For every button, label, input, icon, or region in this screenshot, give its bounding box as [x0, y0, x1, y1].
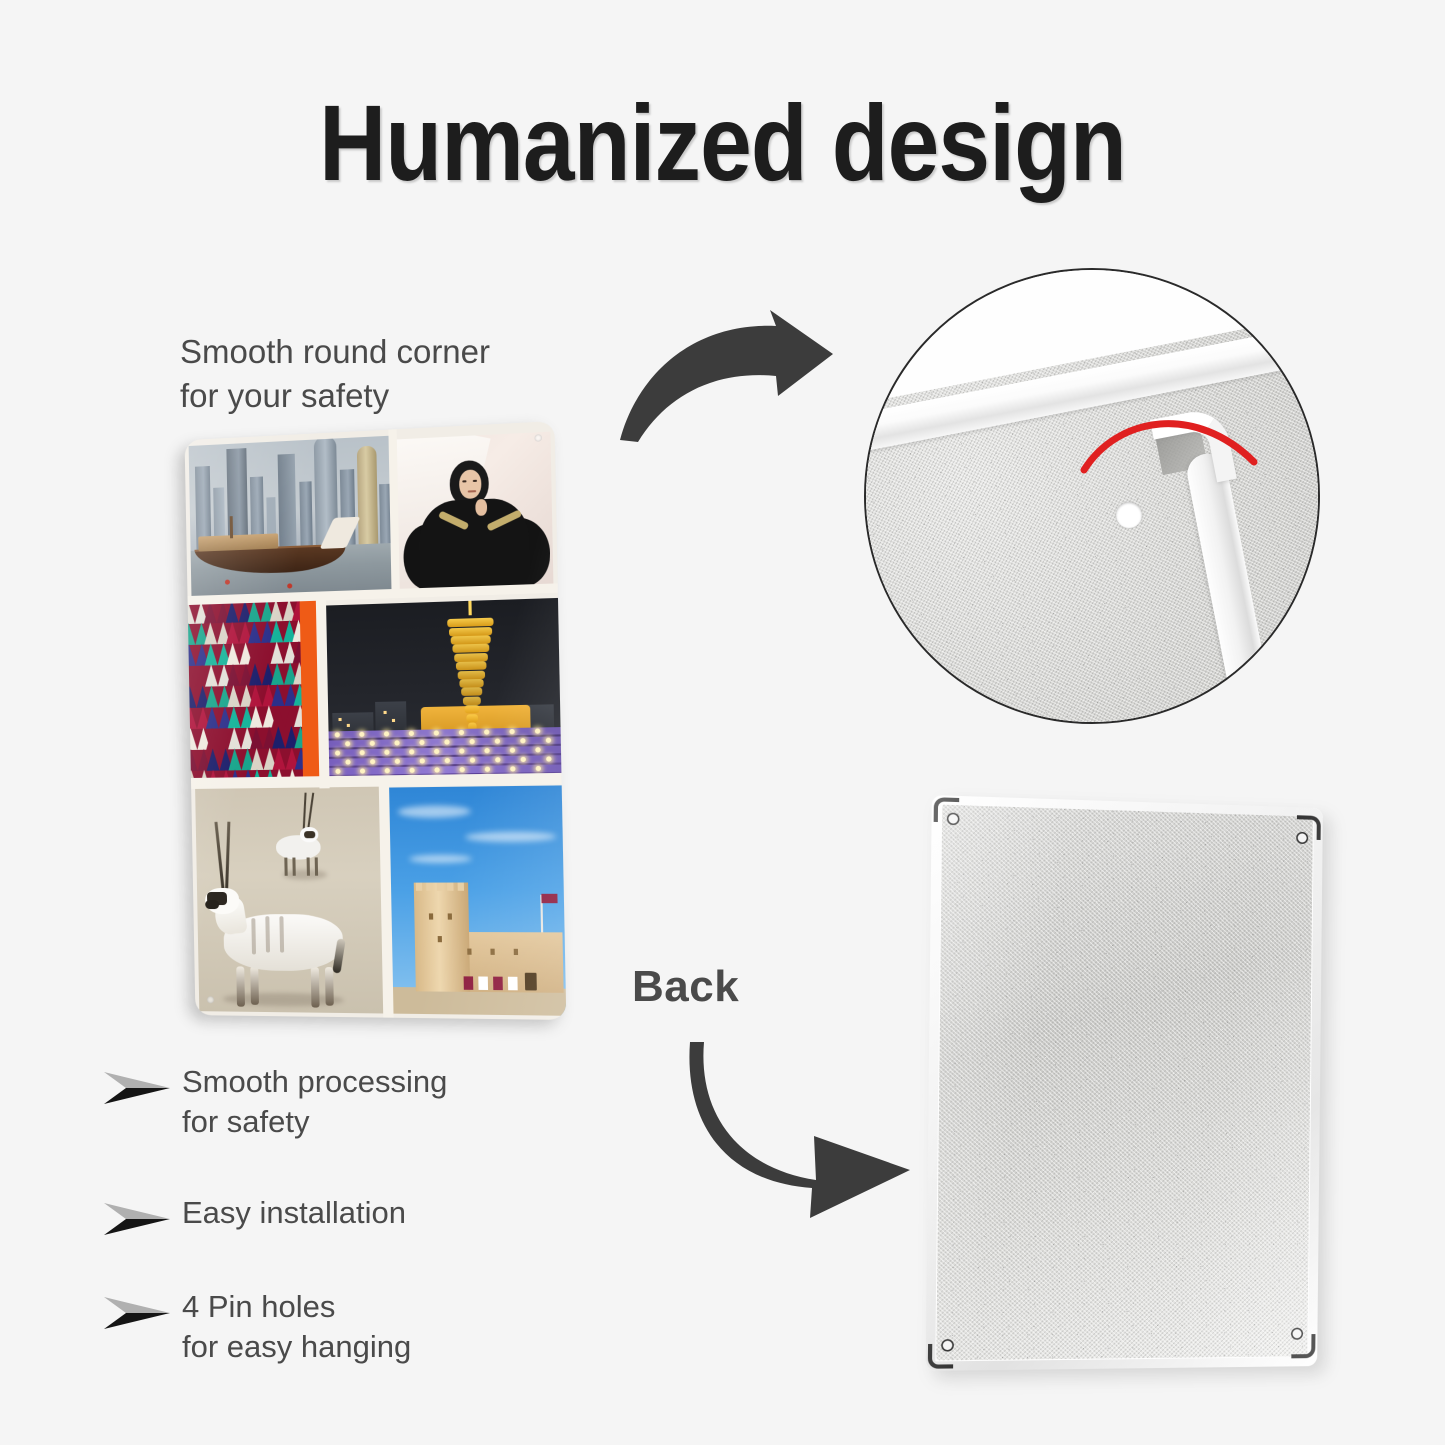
list-item: Easy installation — [104, 1193, 574, 1233]
dart-arrow-bullet-icon — [104, 1068, 170, 1108]
pin-hole-icon — [207, 996, 214, 1003]
list-item: Smooth processing for safety — [104, 1062, 574, 1143]
photo-dhow-boat-doha-skyline — [189, 436, 394, 598]
product-front-panel — [190, 440, 562, 1025]
metal-sign-front — [185, 421, 567, 1020]
dart-arrow-bullet-icon — [104, 1199, 170, 1239]
pin-hole-icon — [948, 814, 958, 824]
photo-fanar-mosque-night — [324, 598, 561, 778]
back-view-label: Back — [632, 962, 739, 1012]
infographic-canvas: Humanized design Smooth round corner for… — [0, 0, 1445, 1445]
feature-line-1: 4 Pin holes — [182, 1287, 574, 1327]
photo-arabian-oryx-desert — [195, 784, 387, 1014]
red-highlight-arc — [1078, 400, 1278, 520]
photo-woman-in-abaya — [395, 432, 554, 591]
smooth-corner-headline: Smooth round corner for your safety — [180, 330, 610, 418]
feature-line-1: Easy installation — [182, 1193, 574, 1233]
page-title: Humanized design — [101, 86, 1344, 199]
list-item: 4 Pin holes for easy hanging — [104, 1287, 574, 1368]
rounded-corner-macro-inset — [864, 268, 1320, 724]
feature-line-1: Smooth processing — [182, 1062, 574, 1102]
feature-list: Smooth processing for safety Easy instal… — [104, 1062, 574, 1417]
pin-hole-icon — [1298, 833, 1307, 842]
headline-line-1: Smooth round corner — [180, 330, 610, 374]
product-back-panel — [938, 808, 1338, 1378]
dart-arrow-bullet-icon — [104, 1293, 170, 1333]
qatar-flag-icon — [541, 894, 557, 903]
metal-sign-back — [926, 795, 1323, 1371]
curved-arrow-to-back-view-icon — [682, 1040, 932, 1240]
photo-al-zubarah-fort — [387, 785, 566, 1015]
feature-line-2: for easy hanging — [182, 1327, 574, 1367]
headline-line-2: for your safety — [180, 374, 610, 418]
feature-line-2: for safety — [182, 1102, 574, 1142]
photo-woven-textile-pattern — [188, 598, 324, 782]
